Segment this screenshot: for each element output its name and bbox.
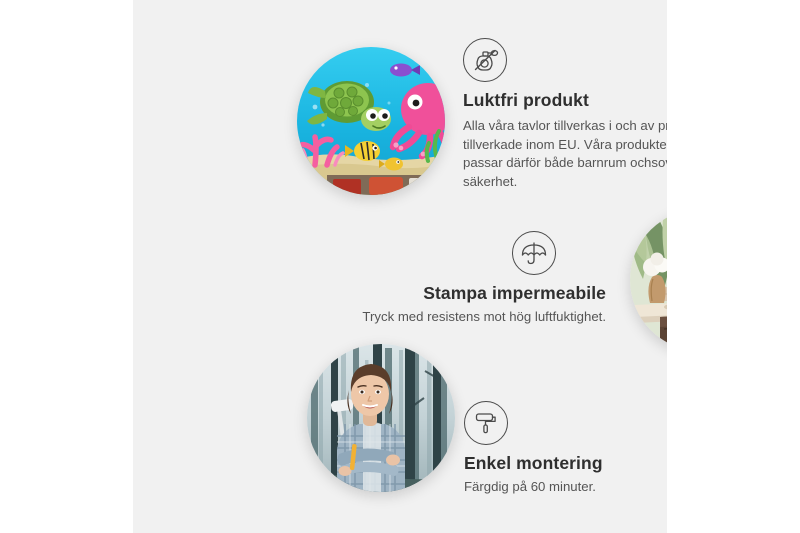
feature-body: Tryck med resistens mot hög luftfuktighe… — [288, 308, 606, 327]
feature-body: Alla våra tavlor tillverkas i och av pro… — [463, 117, 667, 192]
photo-bathroom-botanical-mural — [630, 209, 667, 351]
no-fragrance-icon — [463, 38, 507, 82]
feature-block-luktfri-produkt: Luktfri produkt Alla våra tavlor tillver… — [463, 38, 667, 192]
feature-title: Stampa impermeabile — [288, 283, 606, 305]
promo-feature-page: Luktfri produkt Alla våra tavlor tillver… — [0, 0, 800, 533]
photo-painter-forest-mural — [307, 344, 455, 492]
content-panel: Luktfri produkt Alla våra tavlor tillver… — [133, 0, 667, 533]
feature-title: Enkel montering — [464, 453, 667, 475]
feature-block-enkel-montering: Enkel montering Färgdig på 60 minuter. — [464, 401, 667, 497]
paint-roller-icon — [464, 401, 508, 445]
feature-title: Luktfri produkt — [463, 90, 667, 112]
feature-body: Färgdig på 60 minuter. — [464, 478, 667, 497]
photo-underwater-mural — [297, 47, 445, 195]
feature-block-stampa-impermeabile: Stampa impermeabile Tryck med resistens … — [288, 231, 606, 327]
umbrella-icon — [512, 231, 556, 275]
